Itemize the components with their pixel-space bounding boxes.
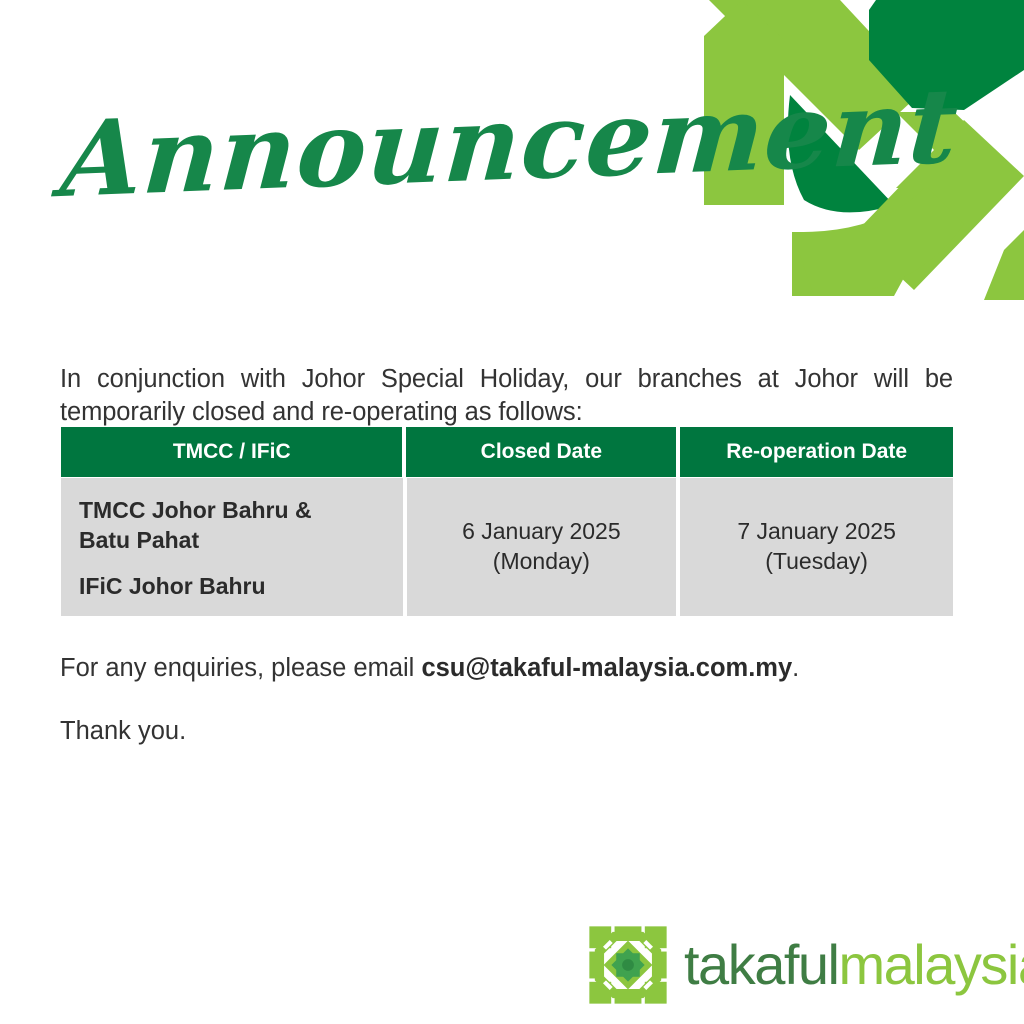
closed-date-day: (Monday)	[493, 547, 590, 577]
table-row: TMCC Johor Bahru & Batu Pahat IFiC Johor…	[61, 478, 953, 616]
table-header-closed-date: Closed Date	[406, 427, 676, 477]
closed-date-value: 6 January 2025	[462, 517, 621, 547]
brand-name-malaysia: malaysia	[839, 933, 1024, 996]
enquiry-email[interactable]: csu@takaful-malaysia.com.my	[421, 654, 792, 682]
enquiry-suffix: .	[792, 654, 799, 682]
reopen-date-value: 7 January 2025	[737, 517, 896, 547]
reopen-date-day: (Tuesday)	[765, 547, 868, 577]
cell-branch-names: TMCC Johor Bahru & Batu Pahat IFiC Johor…	[61, 478, 403, 616]
brand-wordmark: takafulmalaysia	[684, 937, 1024, 993]
table-header-reoperation-date: Re-operation Date	[680, 427, 953, 477]
brand-logo: takafulmalaysia	[586, 920, 1006, 1010]
page-title: Announcement	[58, 83, 727, 212]
intro-paragraph: In conjunction with Johor Special Holida…	[60, 363, 953, 429]
takaful-malaysia-knot-logo-icon	[586, 923, 670, 1007]
thank-you-line: Thank you.	[60, 717, 186, 746]
branch-line-3: IFiC Johor Bahru	[79, 572, 403, 602]
enquiry-line: For any enquiries, please email csu@taka…	[60, 654, 799, 683]
cell-reoperation-date: 7 January 2025 (Tuesday)	[680, 478, 953, 616]
table-header-tmcc-ific: TMCC / IFiC	[61, 427, 402, 477]
announcement-title-block: Announcement	[58, 108, 718, 268]
cell-closed-date: 6 January 2025 (Monday)	[407, 478, 677, 616]
closure-schedule-table: TMCC / IFiC Closed Date Re-operation Dat…	[61, 427, 953, 616]
brand-name-takaful: takaful	[684, 933, 839, 996]
table-header-row: TMCC / IFiC Closed Date Re-operation Dat…	[61, 427, 953, 477]
branch-line-2: Batu Pahat	[79, 526, 403, 556]
enquiry-prefix: For any enquiries, please email	[60, 654, 421, 682]
branch-line-1: TMCC Johor Bahru &	[79, 496, 403, 526]
